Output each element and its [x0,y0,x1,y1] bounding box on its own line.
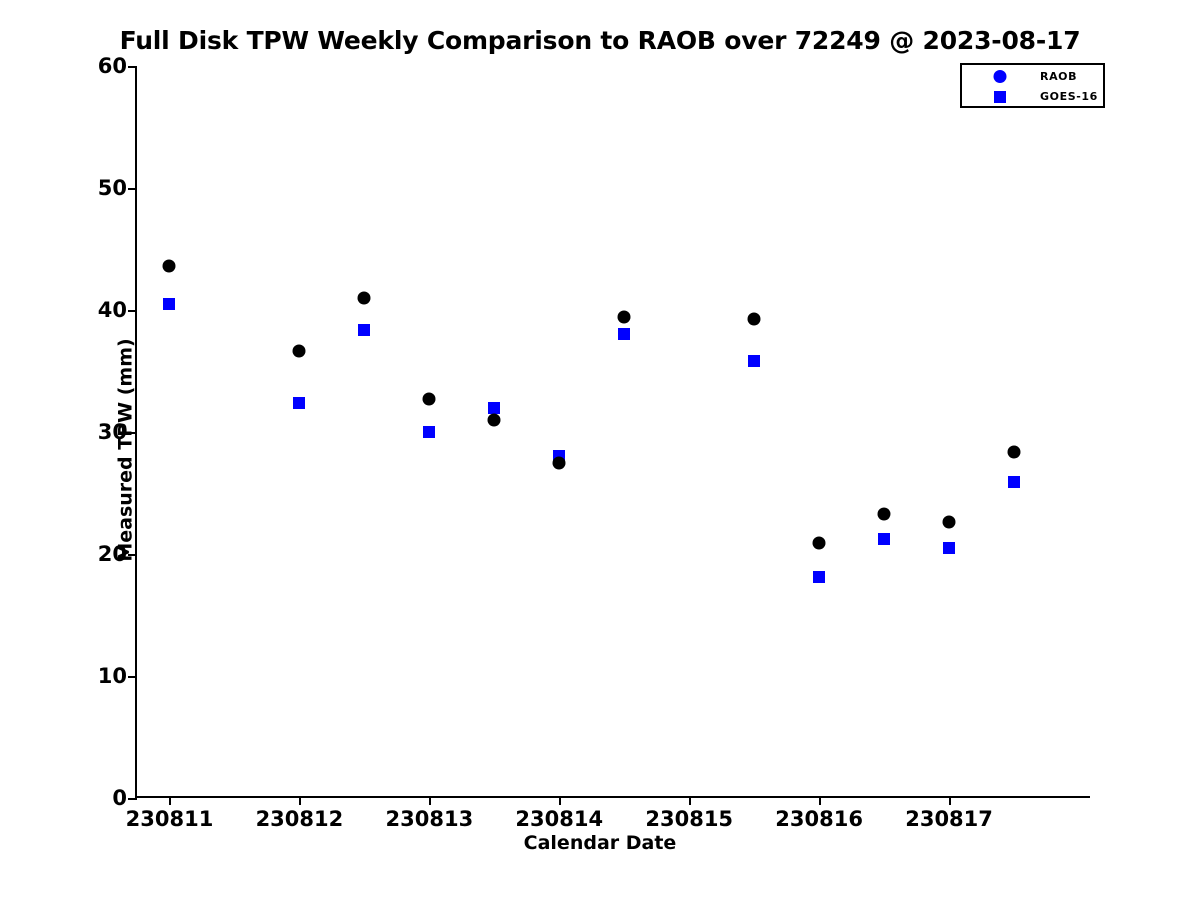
x-tick-mark [689,796,691,805]
x-tick-label: 230817 [905,807,993,831]
chart-figure: Full Disk TPW Weekly Comparison to RAOB … [0,0,1200,900]
y-axis-title: Measured TPW (mm) [115,338,137,561]
data-point-goes-16 [618,328,630,340]
data-point-raob [488,413,501,426]
y-tick-mark [128,188,137,190]
x-tick-label: 230813 [386,807,474,831]
data-point-raob [813,537,826,550]
y-tick-label: 40 [98,298,127,322]
data-point-raob [163,260,176,273]
x-tick-label: 230811 [126,807,214,831]
x-axis-title: Calendar Date [0,832,1200,854]
data-point-raob [878,507,891,520]
x-tick-label: 230812 [256,807,344,831]
data-point-raob [423,393,436,406]
x-tick-mark [299,796,301,805]
data-point-raob [943,516,956,529]
x-tick-mark [429,796,431,805]
data-point-goes-16 [423,426,435,438]
chart-legend: RAOBGOES-16 [960,63,1105,108]
y-tick-mark [128,432,137,434]
x-tick-mark [949,796,951,805]
data-point-raob [748,312,761,325]
data-point-goes-16 [813,571,825,583]
y-tick-mark [128,310,137,312]
x-tick-label: 230816 [775,807,863,831]
data-point-raob [358,291,371,304]
plot-area: 0102030405060 23081123081223081323081423… [135,66,1090,798]
x-tick-label: 230814 [515,807,603,831]
legend-marker-square-icon [994,91,1006,103]
data-point-goes-16 [293,397,305,409]
data-point-goes-16 [163,298,175,310]
data-point-goes-16 [1008,476,1020,488]
legend-label: GOES-16 [1040,90,1098,103]
data-point-goes-16 [878,533,890,545]
x-tick-label: 230815 [645,807,733,831]
data-point-goes-16 [943,542,955,554]
data-point-raob [1008,445,1021,458]
y-tick-mark [128,676,137,678]
y-tick-mark [128,66,137,68]
legend-marker-circle-icon [994,70,1007,83]
y-tick-label: 60 [98,54,127,78]
data-point-raob [553,456,566,469]
y-tick-mark [128,798,137,800]
y-tick-mark [128,554,137,556]
x-tick-mark [819,796,821,805]
data-point-goes-16 [748,355,760,367]
x-tick-mark [559,796,561,805]
data-point-goes-16 [488,402,500,414]
legend-item-raob: RAOB [962,66,1103,87]
data-point-goes-16 [358,324,370,336]
y-tick-label: 30 [98,420,127,444]
data-point-raob [618,311,631,324]
y-tick-label: 10 [98,664,127,688]
data-point-raob [293,345,306,358]
x-tick-mark [169,796,171,805]
legend-item-goes-16: GOES-16 [962,86,1103,107]
legend-label: RAOB [1040,70,1077,83]
chart-title: Full Disk TPW Weekly Comparison to RAOB … [0,26,1200,55]
y-tick-label: 20 [98,542,127,566]
y-tick-label: 50 [98,176,127,200]
